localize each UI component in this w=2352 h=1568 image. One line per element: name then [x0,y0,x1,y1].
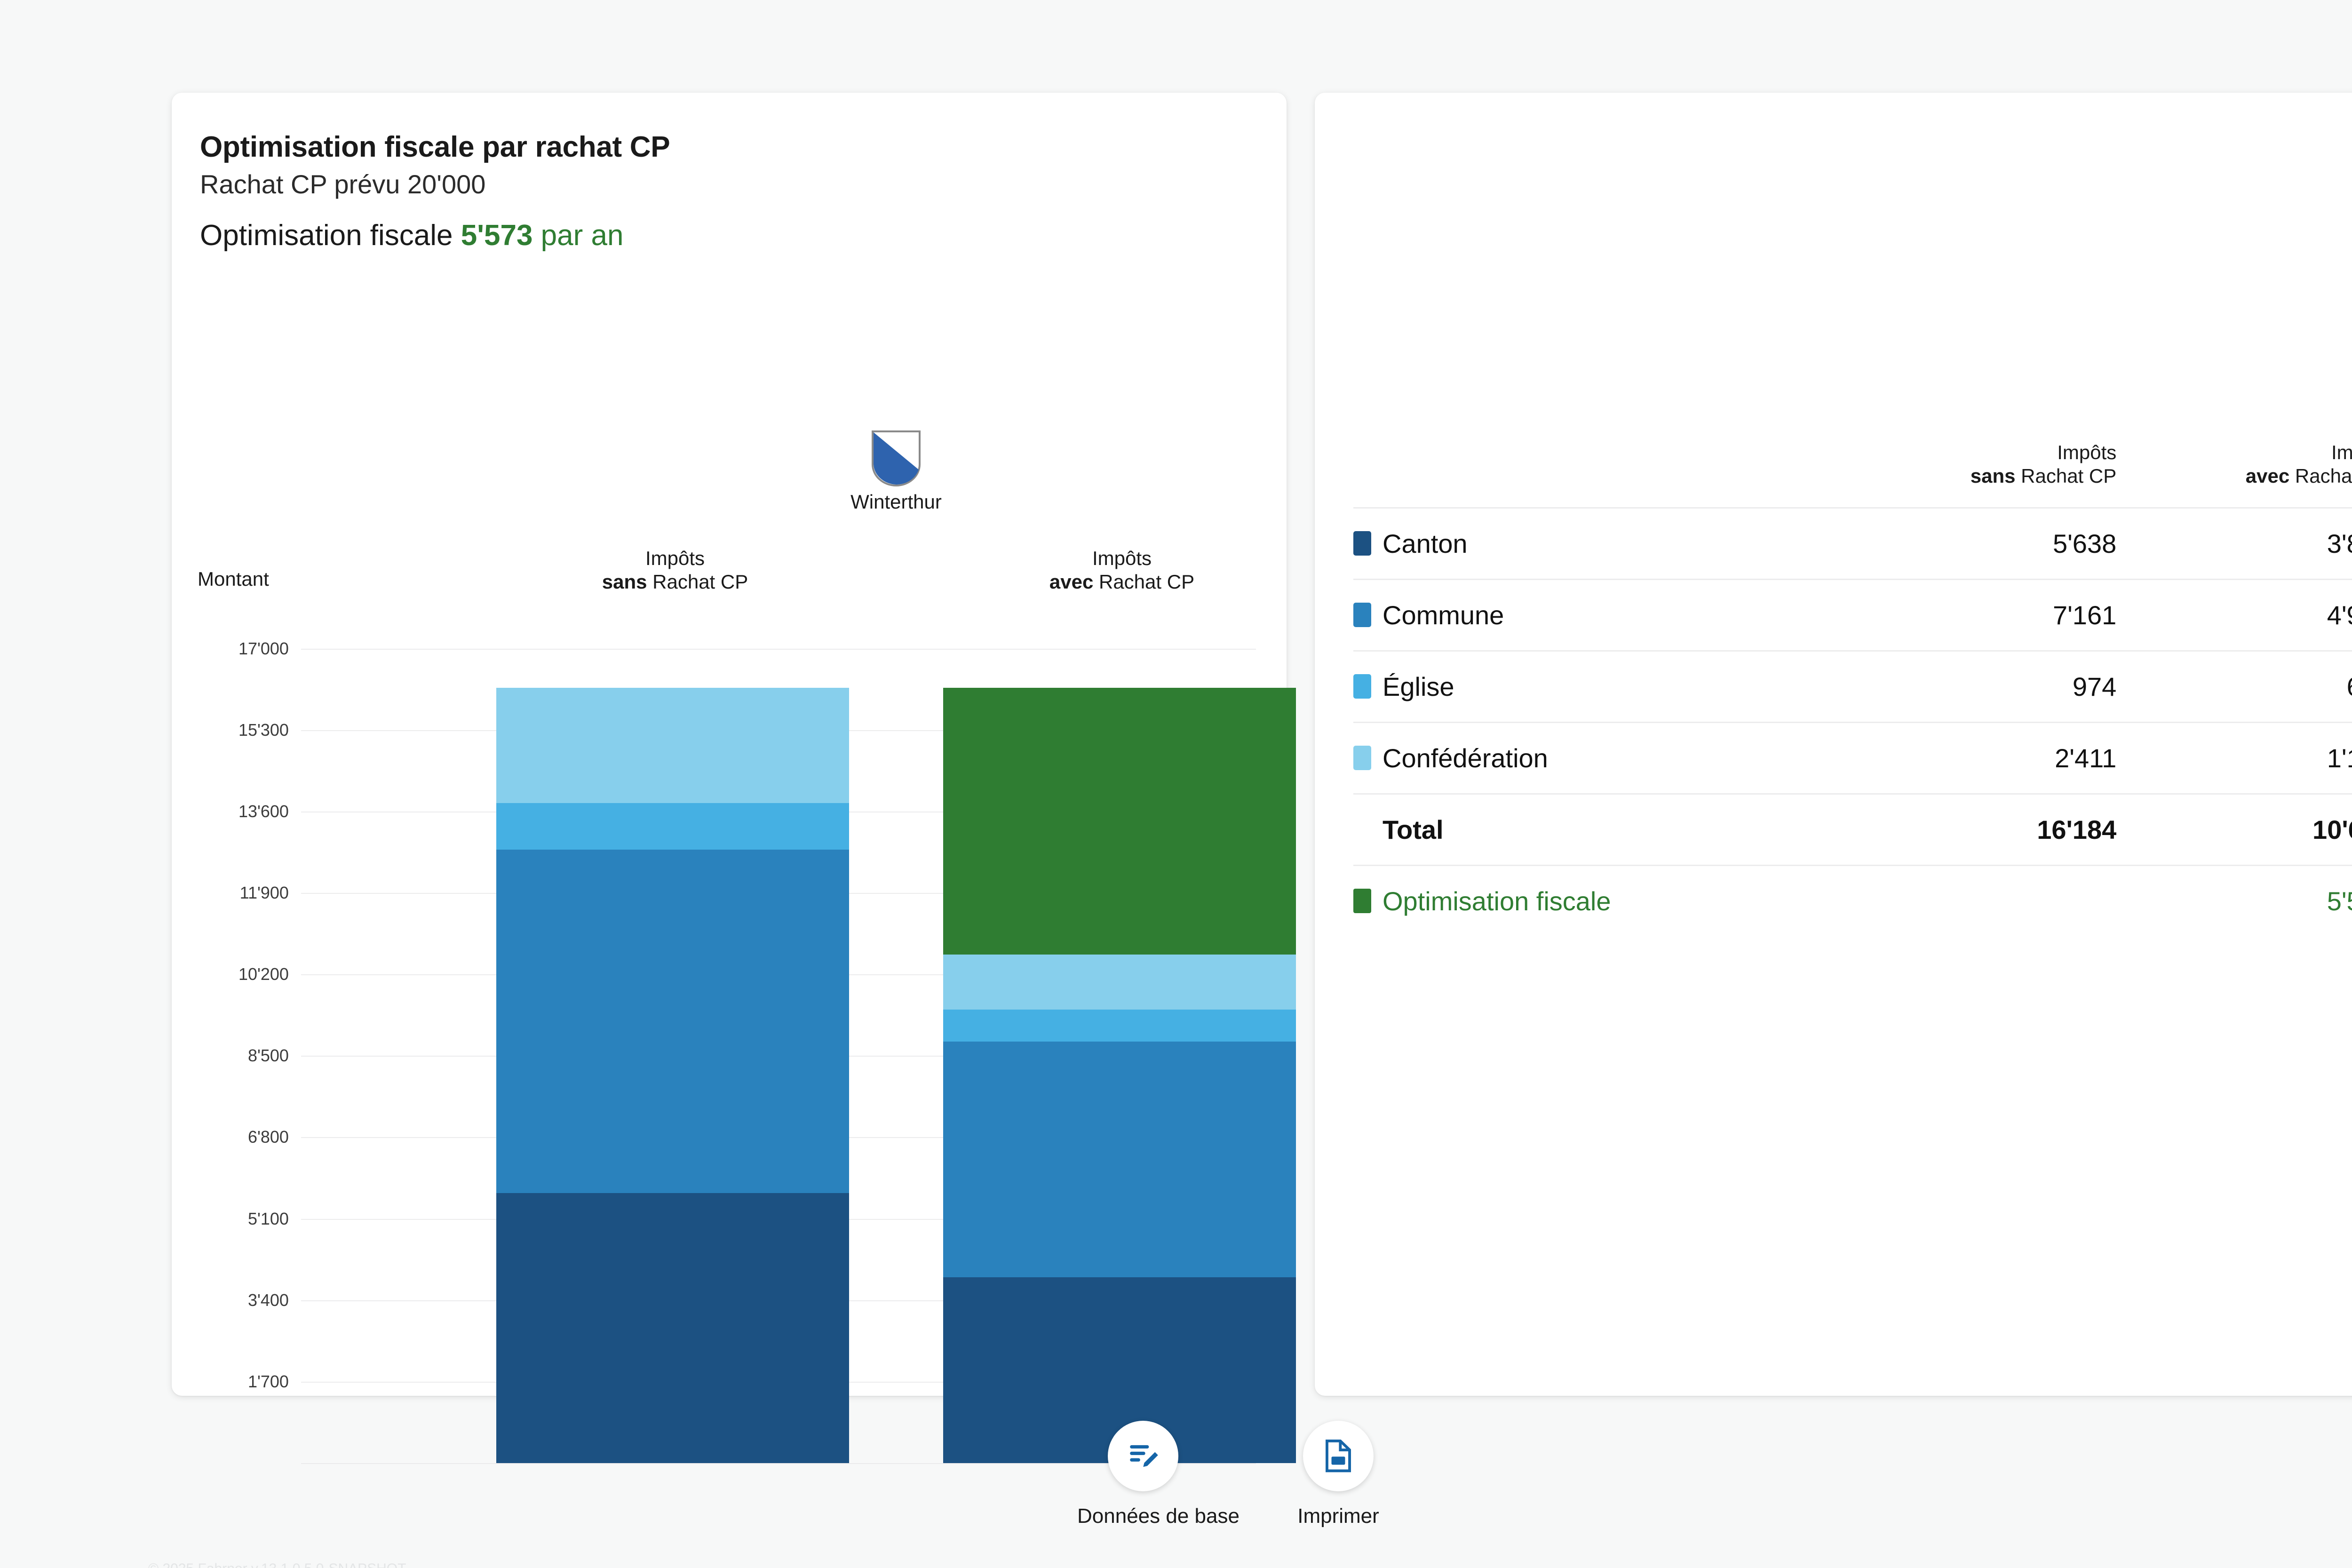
imprimer-button[interactable]: Imprimer [1272,1421,1404,1528]
bar-avec-rachat[interactable] [943,688,1296,1463]
header-avec-line1: Impôts [2116,441,2352,464]
y-axis-tick-label: 1'700 [248,1372,299,1392]
value-sans-rachat: 7'161 [1840,580,2116,651]
donnees-de-base-button[interactable]: Données de base [1077,1421,1209,1528]
bar-segment-optimisation-fiscale[interactable] [943,688,1296,955]
row-label: Église [1383,672,1454,701]
header-sans-rachat: Impôts sans Rachat CP [1840,441,2116,508]
chart-column-header-sans: Impôts sans Rachat CP [496,547,854,593]
value-sans-rachat [1840,866,2116,937]
y-axis-tick-label: 11'900 [240,883,299,903]
y-axis-tick-label: 15'300 [238,720,299,740]
table-row: Optimisation fiscale5'573 [1353,866,2352,937]
y-axis-tick-label: 6'800 [248,1127,299,1147]
value-avec-rachat: 669 [2116,651,2352,723]
app-page: Optimisation fiscale par rachat CP Racha… [0,0,2352,1568]
row-label: Total [1383,815,1444,844]
edit-list-icon [1126,1439,1160,1473]
chart-subtitle: Rachat CP prévu 20'000 [200,169,485,199]
chart-column-header-avec: Impôts avec Rachat CP [943,547,1301,593]
y-axis-tick-label: 17'000 [238,639,299,659]
chart-col-avec-rest: Rachat CP [1093,571,1194,593]
bar-segment--glise[interactable] [496,803,849,850]
imprimer-label: Imprimer [1272,1504,1404,1528]
legend-swatch [1353,603,1371,627]
summary-amount: 5'573 [461,219,533,252]
row-label: Confédération [1383,743,1548,773]
value-sans-rachat: 974 [1840,651,2116,723]
header-avec-bold: avec [2246,465,2289,487]
action-bar: Données de base Imprimer [1077,1421,1404,1528]
chart-col-sans-line1: Impôts [496,547,854,570]
bar-sans-rachat[interactable] [496,688,849,1463]
bar-segment-conf-d-ration[interactable] [943,955,1296,1009]
table-body: Canton5'6383'881Commune7'1614'920Église9… [1353,508,2352,937]
row-label-cell: Église [1353,651,1840,723]
header-sans-rest: Rachat CP [2015,465,2116,487]
value-sans-rachat: 16'184 [1840,794,2116,866]
footer-text: © 2025 Fahrner v.13.1.0.5.0-SNAPSHOT [148,1561,406,1568]
donnees-de-base-label: Données de base [1077,1504,1209,1528]
y-axis-tick-label: 5'100 [248,1209,299,1229]
y-axis-title: Montant [198,568,269,590]
chart-card: Optimisation fiscale par rachat CP Racha… [172,93,1287,1396]
chart-col-sans-bold: sans [602,571,647,593]
value-avec-rachat: 1'141 [2116,723,2352,794]
pdf-document-icon [1323,1439,1354,1473]
y-axis-tick-label: 10'200 [238,964,299,984]
legend-swatch [1353,746,1371,770]
summary-suffix: par an [532,219,623,252]
bar-segment-commune[interactable] [943,1042,1296,1277]
bar-segment-commune[interactable] [496,850,849,1193]
donnees-de-base-fab[interactable] [1108,1421,1178,1491]
crest-label: Winterthur [844,491,948,513]
bar-chart-plot: 17'00015'30013'60011'90010'2008'5006'800… [301,608,1256,1463]
row-label-cell: Canton [1353,508,1840,580]
row-label: Commune [1383,600,1504,630]
table-row: Canton5'6383'881 [1353,508,2352,580]
value-avec-rachat: 4'920 [2116,580,2352,651]
table-header-row: Impôts sans Rachat CP Impôts avec Rachat… [1353,441,2352,508]
value-sans-rachat: 2'411 [1840,723,2116,794]
header-sans-line1: Impôts [1840,441,2116,464]
optimisation-summary: Optimisation fiscale 5'573 par an [200,219,623,252]
table-row: Confédération2'4111'141 [1353,723,2352,794]
tax-breakdown-table: Impôts sans Rachat CP Impôts avec Rachat… [1353,441,2352,936]
row-label-cell: Optimisation fiscale [1353,866,1840,937]
legend-swatch [1353,674,1371,699]
municipality-crest: Winterthur [844,429,948,513]
table-row: Total16'18410'611 [1353,794,2352,866]
bar-segment-conf-d-ration[interactable] [496,688,849,804]
table-row: Église974669 [1353,651,2352,723]
header-category [1353,441,1840,508]
value-avec-rachat: 10'611 [2116,794,2352,866]
bar-segment-canton[interactable] [496,1193,849,1463]
chart-col-sans-rest: Rachat CP [647,571,748,593]
header-sans-bold: sans [1971,465,2016,487]
legend-swatch [1353,889,1371,913]
gridline [301,649,1256,650]
chart-col-avec-line1: Impôts [943,547,1301,570]
bar-segment--glise[interactable] [943,1010,1296,1042]
header-avec-rachat: Impôts avec Rachat CP [2116,441,2352,508]
page-title: Optimisation fiscale par rachat CP [200,130,670,164]
breakdown-card: Impôts sans Rachat CP Impôts avec Rachat… [1315,93,2352,1396]
winterthur-shield-icon [870,429,922,488]
y-axis-tick-label: 13'600 [238,802,299,821]
table-row: Commune7'1614'920 [1353,580,2352,651]
value-sans-rachat: 5'638 [1840,508,2116,580]
row-label-cell: Total [1353,794,1840,866]
y-axis-tick-label: 8'500 [248,1046,299,1066]
row-label-cell: Commune [1353,580,1840,651]
row-label: Canton [1383,529,1468,558]
legend-swatch [1353,531,1371,556]
row-label-cell: Confédération [1353,723,1840,794]
imprimer-fab[interactable] [1303,1421,1374,1491]
header-avec-rest: Rachat CP [2289,465,2352,487]
value-avec-rachat: 3'881 [2116,508,2352,580]
chart-col-avec-bold: avec [1049,571,1093,593]
summary-prefix: Optimisation fiscale [200,219,461,252]
value-avec-rachat: 5'573 [2116,866,2352,937]
row-label: Optimisation fiscale [1383,886,1611,916]
y-axis-tick-label: 3'400 [248,1290,299,1310]
